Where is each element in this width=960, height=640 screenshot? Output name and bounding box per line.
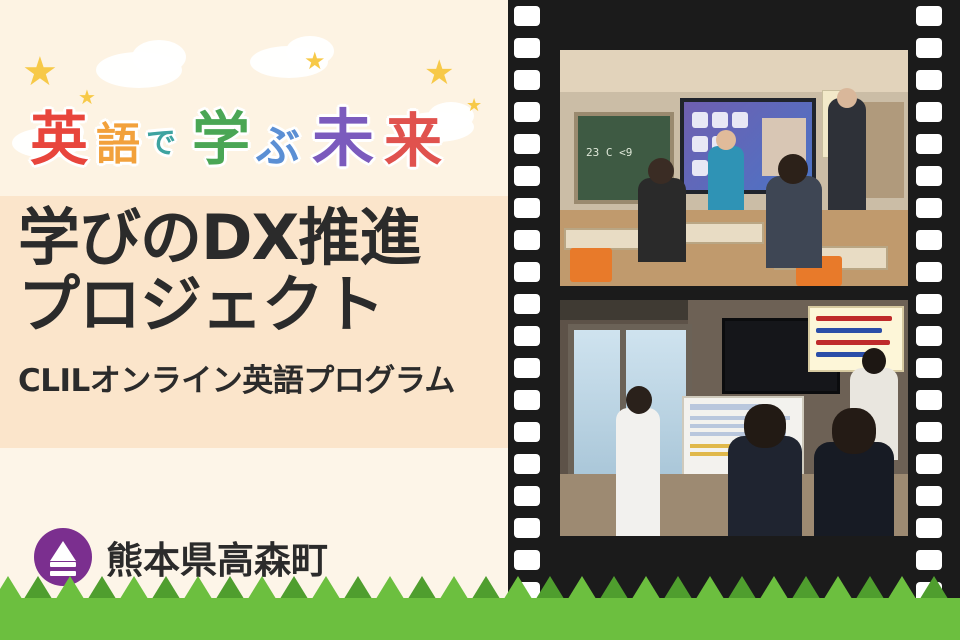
page-title-line-2: プロジェクト bbox=[18, 272, 498, 339]
title-block: 学びのDX推進 プロジェクト CLILオンライン英語プログラム bbox=[18, 205, 498, 400]
poster-canvas: ★ ★ ★ ★ ★ 英 語 で 学 ぶ 未 来 学びのDX推進 プロジェクト C… bbox=[0, 0, 960, 640]
student-figure bbox=[766, 176, 822, 268]
classroom-photo-junior-high bbox=[560, 300, 908, 536]
film-perforations-left bbox=[514, 0, 548, 640]
kicker-char-7: 来 bbox=[384, 94, 442, 178]
student-figure bbox=[814, 442, 894, 536]
classroom-goal-poster bbox=[808, 306, 904, 372]
cloud-icon bbox=[132, 40, 186, 74]
film-perforations-right bbox=[916, 0, 950, 640]
kicker-char-5: ぶ bbox=[256, 110, 300, 174]
kicker-char-2: 語 bbox=[96, 108, 140, 172]
kicker-char-1: 英 bbox=[30, 92, 88, 176]
kicker-char-6: 未 bbox=[312, 88, 374, 178]
page-subtitle: CLILオンライン英語プログラム bbox=[18, 355, 498, 400]
student-figure bbox=[708, 146, 744, 220]
student-figure bbox=[728, 436, 802, 536]
photo-frame-top: 23 C <9 bbox=[560, 50, 908, 286]
page-title-line-1: 学びのDX推進 bbox=[18, 205, 498, 272]
classroom-photo-elementary: 23 C <9 bbox=[560, 50, 908, 286]
kicker-char-4: 学 bbox=[192, 92, 250, 176]
student-figure bbox=[638, 178, 686, 262]
chalkboard-text: 23 C <9 bbox=[586, 146, 632, 159]
kicker-char-3: で bbox=[146, 118, 176, 162]
left-content-panel: ★ ★ ★ ★ ★ 英 語 で 学 ぶ 未 来 学びのDX推進 プロジェクト C… bbox=[0, 0, 510, 640]
kicker-headline: 英 語 で 学 ぶ 未 来 bbox=[24, 86, 494, 176]
film-strip: 23 C <9 bbox=[508, 0, 960, 640]
grass-band bbox=[0, 598, 960, 640]
star-icon: ★ bbox=[304, 50, 326, 74]
teacher-figure bbox=[828, 98, 866, 216]
photo-frame-bottom bbox=[560, 300, 908, 536]
star-icon: ★ bbox=[424, 56, 454, 90]
student-figure bbox=[616, 408, 660, 536]
